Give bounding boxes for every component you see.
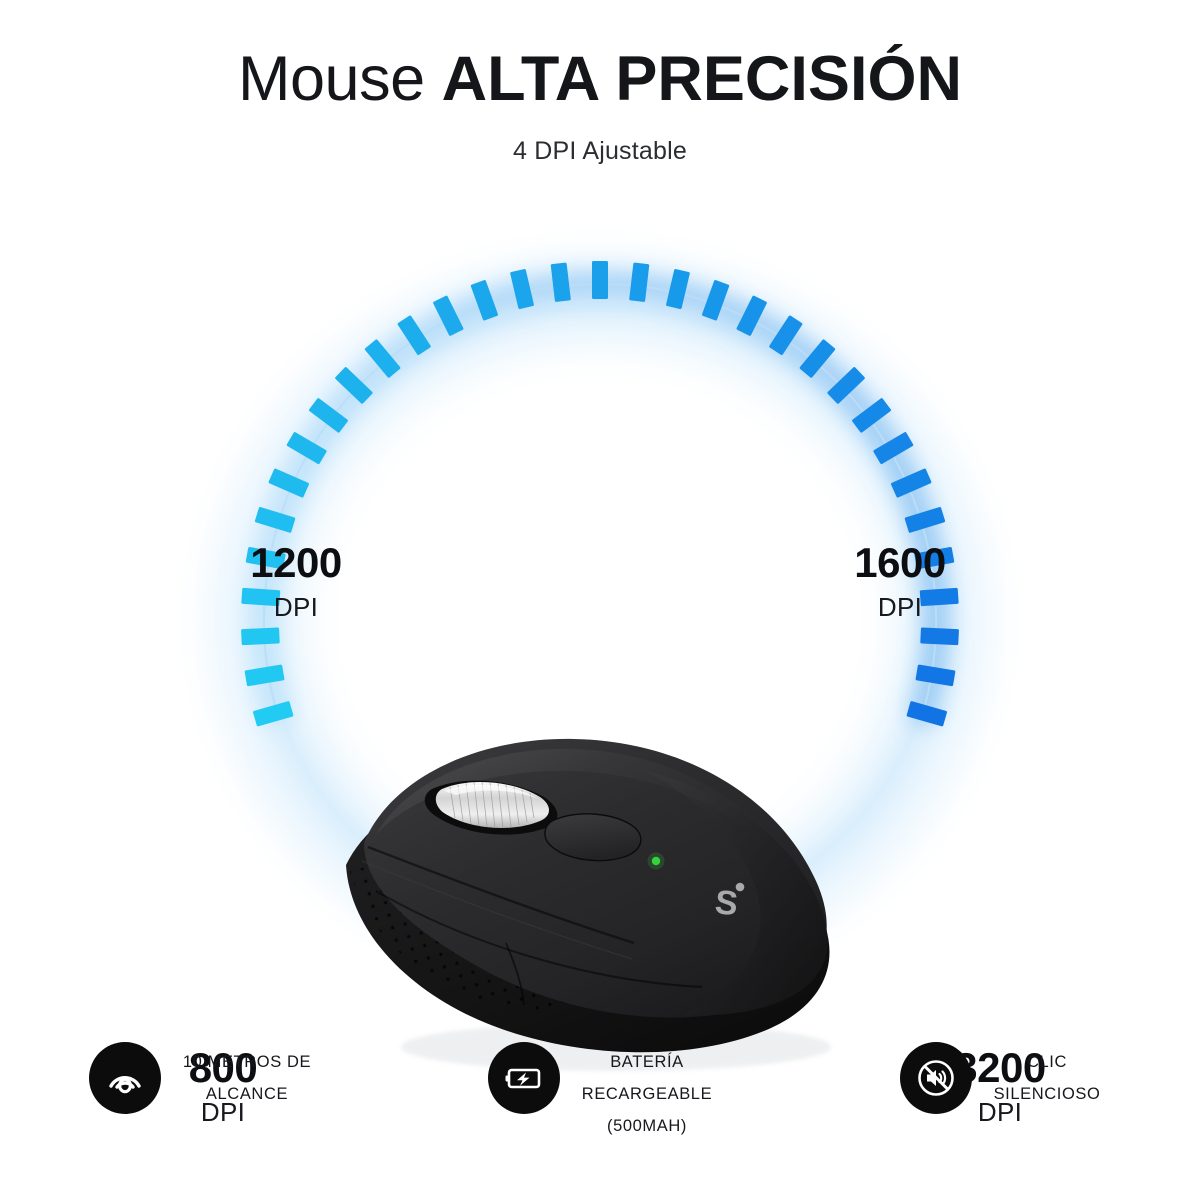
battery-charging-icon xyxy=(488,1042,560,1114)
mouse-led-glow xyxy=(648,853,665,870)
feature-silent-label: CLIC SILENCIOSO xyxy=(994,1028,1101,1110)
feature-line: (500MAH) xyxy=(582,1110,712,1142)
feature-line: 10 METROS DE xyxy=(183,1046,311,1078)
page-subtitle: 4 DPI Ajustable xyxy=(0,111,1200,166)
dpi-gauge: 1200 DPI 1600 DPI 800 DPI 3200 DPI xyxy=(0,220,1200,960)
gauge-tick xyxy=(920,627,959,645)
feature-line: ALCANCE xyxy=(183,1078,311,1110)
brand-logo-dot xyxy=(736,883,745,892)
gauge-tick xyxy=(241,627,280,645)
dpi-label-1600: 1600 DPI xyxy=(800,542,1000,620)
brand-logo-letter: S xyxy=(713,883,740,923)
dpi-value: 1600 xyxy=(800,542,1000,584)
wireless-signal-icon xyxy=(89,1042,161,1114)
header: Mouse ALTA PRECISIÓN 4 DPI Ajustable xyxy=(0,0,1200,166)
feature-range-label: 10 METROS DE ALCANCE xyxy=(183,1028,311,1110)
dpi-label-1200: 1200 DPI xyxy=(196,542,396,620)
feature-range: 10 METROS DE ALCANCE xyxy=(0,1028,400,1114)
dpi-value: 1200 xyxy=(196,542,396,584)
infographic-canvas: Mouse ALTA PRECISIÓN 4 DPI Ajustable xyxy=(0,0,1200,1200)
feature-battery-label: BATERÍA RECARGEABLE (500MAH) xyxy=(582,1028,712,1143)
feature-line: SILENCIOSO xyxy=(994,1078,1101,1110)
page-title: Mouse ALTA PRECISIÓN xyxy=(0,0,1200,111)
feature-line: CLIC xyxy=(994,1046,1101,1078)
feature-battery: BATERÍA RECARGEABLE (500MAH) xyxy=(400,1028,800,1143)
mute-speaker-icon xyxy=(900,1042,972,1114)
feature-list: 10 METROS DE ALCANCE BATERÍA RECARGEABLE… xyxy=(0,1028,1200,1168)
page-title-bold: ALTA PRECISIÓN xyxy=(442,44,962,114)
dpi-unit: DPI xyxy=(800,584,1000,620)
page-title-light: Mouse xyxy=(238,44,442,114)
dpi-unit: DPI xyxy=(196,584,396,620)
feature-silent-click: CLIC SILENCIOSO xyxy=(800,1028,1200,1114)
feature-line: BATERÍA xyxy=(582,1046,712,1078)
feature-line: RECARGEABLE xyxy=(582,1078,712,1110)
gauge-tick xyxy=(592,261,608,299)
